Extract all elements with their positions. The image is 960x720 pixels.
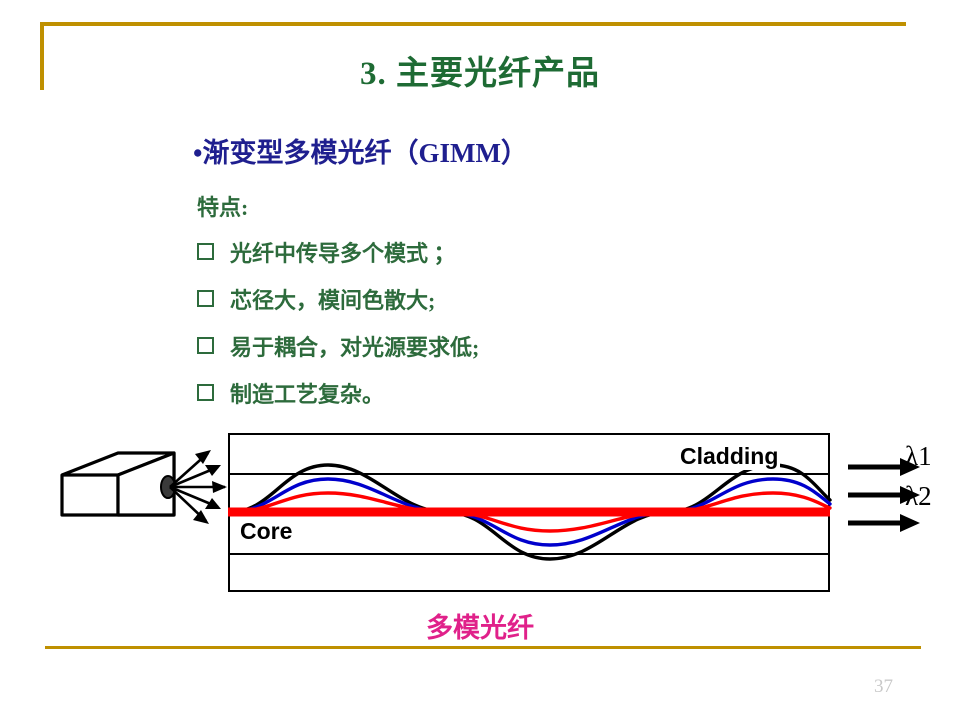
- output-arrowhead-1: [900, 458, 920, 476]
- features-heading: 特点:: [197, 190, 248, 222]
- output-arrowheads: [900, 458, 920, 532]
- output-arrows-graphic: [828, 425, 948, 610]
- multimode-fiber-diagram: Cladding Core: [40, 425, 940, 610]
- square-bullet-icon: [197, 243, 214, 260]
- page-title: 3. 主要光纤产品: [0, 46, 960, 94]
- output-arrowhead-2: [900, 486, 920, 504]
- page-number: 37: [874, 676, 893, 698]
- list-item: 光纤中传导多个模式 ；: [197, 236, 757, 283]
- square-bullet-icon: [197, 384, 214, 401]
- square-bullet-icon: [197, 290, 214, 307]
- list-item: 易于耦合，对光源要求低;: [197, 330, 757, 377]
- core-cladding-boundary-top: [228, 473, 830, 475]
- cladding-label: Cladding: [678, 443, 780, 470]
- output-arrowhead-3: [900, 514, 920, 532]
- diagram-caption: 多模光纤: [0, 606, 960, 645]
- core-label: Core: [238, 518, 294, 545]
- list-item: 芯径大，模间色散大;: [197, 283, 757, 330]
- list-item-label: 易于耦合，对光源要求低;: [230, 330, 479, 362]
- frame-rule-top: [40, 22, 906, 26]
- arrowhead-center: [212, 481, 227, 493]
- list-item-label: 光纤中传导多个模式 ；: [230, 236, 456, 268]
- section-subtitle: •渐变型多模光纤（GIMM）: [193, 131, 528, 170]
- core-cladding-boundary-bottom: [228, 553, 830, 555]
- output-arrow-lines: [848, 467, 906, 523]
- frame-rule-bottom: [45, 646, 921, 649]
- slide-canvas: 3. 主要光纤产品 •渐变型多模光纤（GIMM） 特点: 光纤中传导多个模式 ；…: [0, 0, 960, 720]
- list-item: 制造工艺复杂。: [197, 377, 757, 424]
- square-bullet-icon: [197, 337, 214, 354]
- list-item-label: 芯径大，模间色散大;: [230, 283, 435, 315]
- list-item-label: 制造工艺复杂。: [230, 377, 384, 409]
- features-list: 光纤中传导多个模式 ； 芯径大，模间色散大; 易于耦合，对光源要求低; 制造工艺…: [197, 236, 757, 424]
- light-source-graphic: [40, 425, 240, 610]
